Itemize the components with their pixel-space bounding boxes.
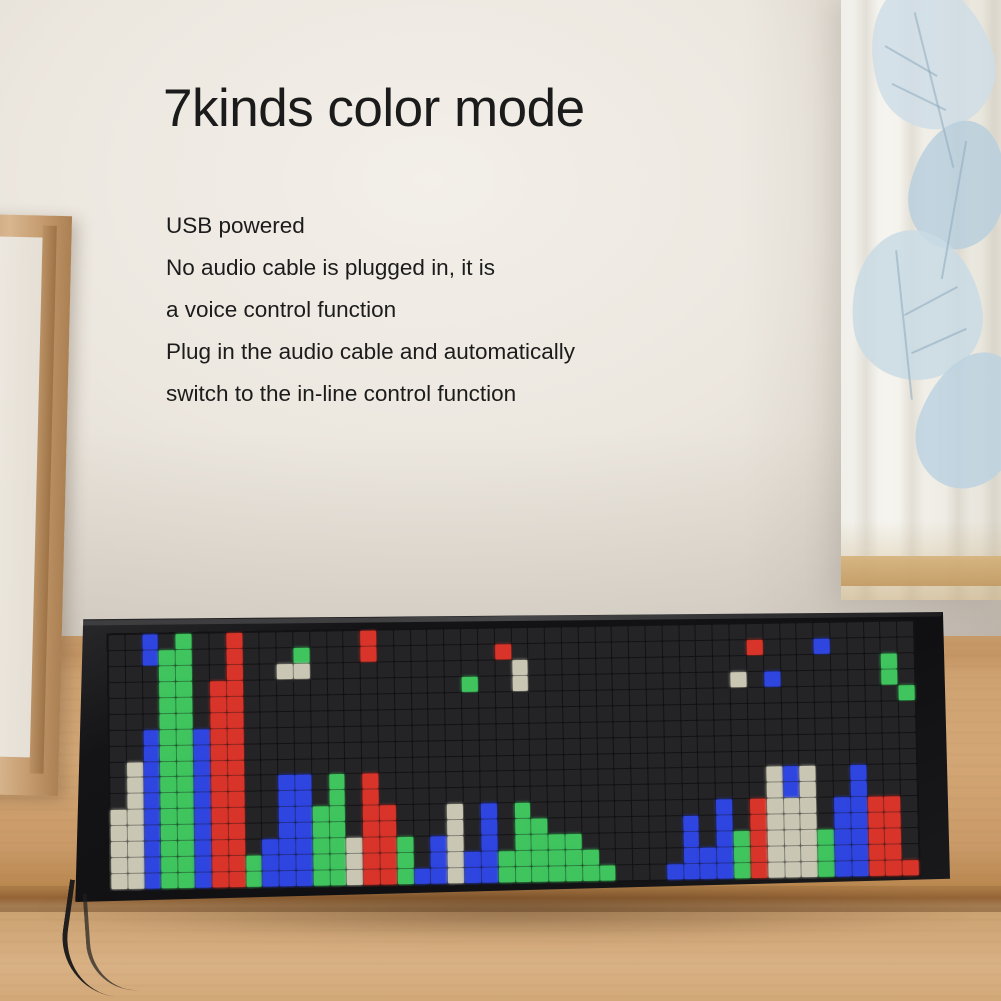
led-cell [649,801,665,816]
led-cell [632,785,648,800]
led-cell [227,728,243,743]
led-cell [547,755,563,770]
led-cell [193,697,209,712]
led-cell [397,821,413,836]
led-cell [816,750,832,765]
led-cell [718,863,734,878]
led-cell [565,802,581,817]
led-cell [815,686,831,701]
led-cell [599,849,615,864]
led-cell [814,639,830,654]
led-cell [260,632,276,647]
led-cell [832,702,848,717]
led-cell [531,819,547,834]
led-cell [833,750,849,765]
led-cell [279,791,295,806]
led-cell [747,656,763,671]
led-cell [246,872,262,887]
led-cell [717,815,733,830]
led-cell [666,800,682,815]
led-cell [343,631,359,646]
led-cell [765,735,781,750]
led-cell [717,847,733,862]
led-cell [479,724,495,739]
led-cell [127,810,143,825]
led-cell [529,691,545,706]
led-cell [529,707,545,722]
led-cell [547,771,563,786]
led-cell [193,665,209,680]
led-cell [512,644,528,659]
led-cell [280,871,296,886]
led-cell [211,760,227,775]
led-cell [831,654,847,669]
led-cell [380,821,396,836]
led-cell [160,745,176,760]
led-cell [848,654,864,669]
led-cell [364,870,380,885]
led-cell [414,853,430,868]
led-cell [780,655,796,670]
led-cell [380,805,396,820]
led-cell [633,865,649,880]
led-cell [819,862,835,877]
led-cell [347,838,363,853]
led-cell [209,649,225,664]
led-cell [128,826,144,841]
led-cell [715,752,731,767]
led-cell [495,628,511,643]
led-cell [747,672,763,687]
led-cell [565,818,581,833]
led-cell [377,646,393,661]
led-cell [746,640,762,655]
led-cell [279,855,295,870]
led-cell [797,655,813,670]
led-cell [531,803,547,818]
led-cell [361,678,377,693]
led-cell [898,653,914,668]
led-cell [361,647,377,662]
led-cell [815,702,831,717]
led-cell [461,629,477,644]
led-cell [276,632,292,647]
led-cell [666,832,682,847]
led-cell [260,664,276,679]
led-cell [699,768,715,783]
led-cell [515,867,531,882]
led-cell [864,638,880,653]
led-cell [835,829,851,844]
led-cell [412,725,428,740]
led-cell [632,817,648,832]
led-cell [614,738,630,753]
led-display-screen [107,619,921,891]
led-cell [835,845,851,860]
led-cell [785,846,801,861]
led-cell [411,677,427,692]
led-cell [513,723,529,738]
led-cell [866,749,882,764]
led-cell [865,685,881,700]
led-cell [195,809,211,824]
led-cell [595,627,611,642]
led-cell [614,722,630,737]
led-cell [515,851,531,866]
led-cell [865,701,881,716]
led-cell [277,664,293,679]
led-cell [546,691,562,706]
led-cell [260,648,276,663]
led-cell [380,837,396,852]
led-cell [814,654,830,669]
led-cell [751,847,767,862]
led-cell [176,666,192,681]
led-cell [429,725,445,740]
led-cell [193,649,209,664]
led-cell [279,839,295,854]
led-cell [768,863,784,878]
led-cell [881,653,897,668]
led-cell [562,675,578,690]
led-cell [427,629,443,644]
led-cell [681,720,697,735]
led-cell [851,829,867,844]
led-cell [396,773,412,788]
led-cell [109,651,125,666]
led-cell [159,666,175,681]
led-cell [784,830,800,845]
led-cell [177,713,193,728]
led-cell [178,809,194,824]
led-cell [633,849,649,864]
led-cell [646,626,662,641]
led-cell [497,771,513,786]
led-cell [378,710,394,725]
led-cell [868,813,884,828]
led-cell [717,831,733,846]
led-cell [226,633,242,648]
led-cell [430,820,446,835]
led-cell [262,823,278,838]
led-cell [714,704,730,719]
led-cell [734,831,750,846]
led-cell [763,639,779,654]
led-cell [647,721,663,736]
led-cell [412,693,428,708]
led-cell [495,676,511,691]
led-cell [646,657,662,672]
led-cell [479,676,495,691]
led-cell [581,770,597,785]
led-cell [178,841,194,856]
led-cell [110,794,126,809]
led-cell [378,694,394,709]
led-cell [647,705,663,720]
led-cell [445,677,461,692]
led-cell [329,758,345,773]
led-cell [531,787,547,802]
led-cell [883,717,899,732]
led-cell [900,748,916,763]
led-cell [127,778,143,793]
led-cell [596,658,612,673]
led-cell [633,833,649,848]
led-cell [681,705,697,720]
led-cell [767,831,783,846]
led-cell [177,745,193,760]
led-cell [783,766,799,781]
led-cell [580,690,596,705]
led-cell [144,778,160,793]
led-cell [431,836,447,851]
led-cell [849,733,865,748]
led-cell [697,704,713,719]
led-cell [768,847,784,862]
led-cell [796,623,812,638]
led-cell [513,707,529,722]
led-cell [312,775,328,790]
led-cell [813,623,829,638]
led-cell [192,634,208,649]
led-cell [580,706,596,721]
led-cell [396,741,412,756]
led-cell [530,739,546,754]
led-cell [127,746,143,761]
led-cell [630,689,646,704]
led-cell [884,765,900,780]
led-cell [445,709,461,724]
led-cell [697,672,713,687]
led-cell [128,842,144,857]
led-cell [750,799,766,814]
led-cell [782,735,798,750]
led-cell [833,766,849,781]
led-cell [210,681,226,696]
led-cell [244,712,260,727]
led-cell [869,845,885,860]
led-cell [245,792,261,807]
led-cell [515,819,531,834]
led-cell [160,714,176,729]
led-cell [262,807,278,822]
led-cell [748,719,764,734]
led-cell [682,784,698,799]
led-cell [210,665,226,680]
led-cell [246,856,262,871]
led-cell [444,645,460,660]
led-cell [612,642,628,657]
led-cell [866,717,882,732]
led-cell [193,713,209,728]
led-cell [329,806,345,821]
led-cell [513,739,529,754]
led-cell [898,669,914,684]
led-cell [563,722,579,737]
led-cell [260,696,276,711]
led-cell [178,793,194,808]
led-cell [478,660,494,675]
led-cell [597,706,613,721]
led-cell [226,649,242,664]
led-cell [902,828,918,843]
led-cell [582,834,598,849]
led-cell [430,773,446,788]
led-cell [344,647,360,662]
led-cell [497,756,513,771]
led-cell [579,659,595,674]
led-cell [830,622,846,637]
led-cell [885,829,901,844]
led-cell [328,695,344,710]
led-cell [327,679,343,694]
led-cell [414,821,430,836]
led-cell [126,714,142,729]
led-cell [886,860,902,875]
led-cell [210,713,226,728]
led-cell [902,812,918,827]
led-cell [429,741,445,756]
led-cell [867,765,883,780]
led-cell [397,805,413,820]
led-cell [212,872,228,887]
led-cell [750,815,766,830]
led-cell [362,758,378,773]
led-cell [581,754,597,769]
led-cell [578,627,594,642]
led-cell [801,830,817,845]
led-cell [109,683,125,698]
led-cell [446,740,462,755]
led-cell [413,757,429,772]
led-cell [245,776,261,791]
led-cell [398,869,414,884]
feature-item: USB powered [166,205,575,247]
led-cell [195,841,211,856]
led-cell [545,659,561,674]
led-cell [496,692,512,707]
led-cell [177,761,193,776]
led-cell [497,787,513,802]
led-cell [630,705,646,720]
led-cell [648,769,664,784]
led-cell [229,856,245,871]
led-cell [566,850,582,865]
led-cell [228,792,244,807]
led-cell [111,810,127,825]
led-cell [110,778,126,793]
led-cell [631,737,647,752]
led-cell [345,742,361,757]
led-cell [478,629,494,644]
led-cell [144,810,160,825]
led-cell [110,762,126,777]
led-cell [799,750,815,765]
led-cell [378,662,394,677]
led-cell [548,787,564,802]
led-cell [412,741,428,756]
led-cell [109,667,125,682]
led-cell [462,677,478,692]
led-cell [179,873,195,888]
led-cell [528,644,544,659]
led-cell [261,712,277,727]
led-cell [798,687,814,702]
led-cell [598,786,614,801]
led-cell [344,694,360,709]
led-cell [327,663,343,678]
led-cell [447,820,463,835]
led-cell [664,721,680,736]
led-cell [683,800,699,815]
led-cell [395,678,411,693]
led-cell [144,762,160,777]
led-cell [226,665,242,680]
led-cell [464,788,480,803]
led-cell [296,855,312,870]
led-cell [850,749,866,764]
led-cell [882,685,898,700]
led-cell [631,721,647,736]
led-cell [880,622,896,637]
led-cell [714,672,730,687]
led-cell [798,671,814,686]
led-cell [615,769,631,784]
led-cell [716,800,732,815]
led-cell [479,708,495,723]
led-cell [412,709,428,724]
led-cell [599,833,615,848]
led-cell [648,737,664,752]
led-cell [583,850,599,865]
led-cell [595,642,611,657]
led-cell [377,630,393,645]
led-cell [362,726,378,741]
led-cell [330,854,346,869]
led-cell [903,860,919,875]
led-cell [126,651,142,666]
led-cell [514,787,530,802]
led-cell [849,718,865,733]
led-cell [700,848,716,863]
led-cell [746,624,762,639]
led-cell [529,675,545,690]
led-cell [178,825,194,840]
led-cell [109,714,125,729]
led-cell [598,754,614,769]
led-cell [582,818,598,833]
led-cell [411,646,427,661]
led-cell [143,682,159,697]
led-cell [361,710,377,725]
led-cell [193,681,209,696]
led-cell [665,784,681,799]
led-cell [847,622,863,637]
led-cell [480,756,496,771]
led-cell [852,861,868,876]
led-cell [847,638,863,653]
led-cell [495,660,511,675]
led-cell [465,868,481,883]
led-cell [512,676,528,691]
led-cell [631,769,647,784]
led-cell [296,807,312,822]
led-cell [848,670,864,685]
led-cell [616,817,632,832]
led-cell [549,834,565,849]
led-cell [684,848,700,863]
led-cell [767,799,783,814]
